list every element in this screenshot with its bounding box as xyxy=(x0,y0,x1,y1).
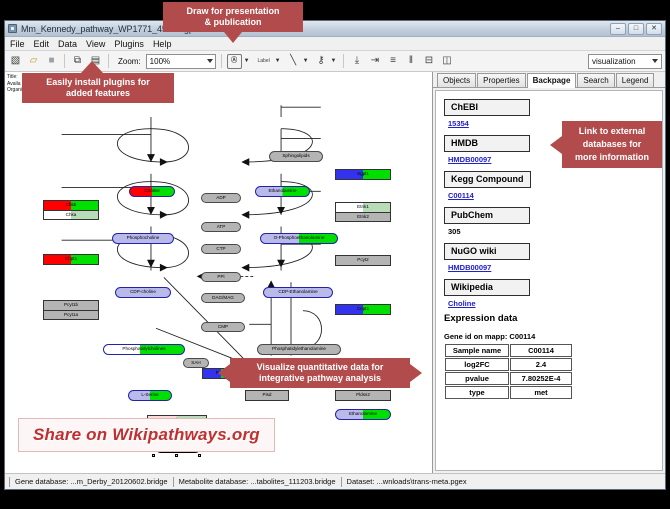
gene-cept1[interactable]: Cept1 xyxy=(335,304,391,315)
callout-plugins: Easily install plugins for added feature… xyxy=(22,73,174,103)
toolbar-separator xyxy=(64,54,65,68)
status-metabolite-database: Metabolite database: ...tabolites_111203… xyxy=(173,477,341,487)
chevron-down-icon xyxy=(207,59,213,63)
node-ctp[interactable]: CTP xyxy=(201,244,241,254)
cell-value: 7.80252E-4 xyxy=(510,372,572,385)
node-cmp[interactable]: CMP xyxy=(201,322,245,332)
line-icon[interactable]: ╲ xyxy=(286,54,301,69)
pubchem-value: 305 xyxy=(448,227,662,236)
app-logo-icon xyxy=(8,24,17,33)
node-dag-mag[interactable]: DAG/MAG xyxy=(201,293,245,303)
menu-bar: File Edit Data View Plugins Help xyxy=(5,37,665,51)
chevron-down-icon xyxy=(652,59,658,63)
callout-link-line3: more information xyxy=(569,151,655,164)
callout-draw-line2: & publication xyxy=(170,17,296,28)
backpage-section-nugo: NuGO wiki HMDB00097 xyxy=(444,241,662,272)
status-dataset: Dataset: ...wnloads\trans-meta.pgex xyxy=(341,477,472,487)
chevron-down-icon[interactable]: ▼ xyxy=(331,58,337,64)
callout-visualize: Visualize quantitative data for integrat… xyxy=(230,358,410,388)
gene-chpt1[interactable]: Chpt1 xyxy=(43,254,99,265)
table-row: pvalue 7.80252E-4 xyxy=(445,372,572,385)
align-columns-icon[interactable]: ‖ xyxy=(403,54,418,69)
node-adp[interactable]: ADP xyxy=(201,193,241,203)
node-ppi[interactable]: PPi xyxy=(201,272,241,282)
node-cdp-choline[interactable]: CDP-choline xyxy=(115,287,171,298)
toolbar-separator xyxy=(221,54,222,68)
menu-data[interactable]: Data xyxy=(58,39,77,49)
callout-visualize-line1: Visualize quantitative data for xyxy=(237,362,403,373)
menu-edit[interactable]: Edit xyxy=(34,39,50,49)
callout-link: Link to external databases for more info… xyxy=(562,121,662,168)
node-sphingolipids[interactable]: Sphingolipids xyxy=(269,151,323,162)
gene-etnk1[interactable]: Etnk1 xyxy=(335,202,391,212)
toolbar-separator xyxy=(108,54,109,68)
zoom-value: 100% xyxy=(150,57,170,66)
cell-value: met xyxy=(510,386,572,399)
gene-pldss2[interactable]: Pldss2 xyxy=(335,390,391,401)
chevron-down-icon[interactable]: ▼ xyxy=(275,58,281,64)
menu-file[interactable]: File xyxy=(10,39,25,49)
cell-key: type xyxy=(445,386,509,399)
callout-plugins-line1: Easily install plugins for xyxy=(29,77,167,88)
section-header-wikipedia: Wikipedia xyxy=(444,279,530,296)
datanode-icon[interactable]: Ⓐ xyxy=(227,54,242,69)
callout-arrow-left-icon xyxy=(550,136,562,154)
backpage-section-pubchem: PubChem 305 xyxy=(444,205,662,236)
title-bar: Mm_Kennedy_pathway_WP1771_45176.gpml – □… xyxy=(5,21,665,37)
node-phosphatidylethanolamine[interactable]: Phosphatidylethanolamine xyxy=(257,344,341,355)
status-bar: Gene database: ...m_Derby_20120602.bridg… xyxy=(5,473,665,489)
callout-arrow-right-icon xyxy=(410,364,422,382)
gene-sgpl1[interactable]: Sgpl1 xyxy=(335,169,391,180)
callout-arrow-down-icon xyxy=(224,32,242,43)
wikipedia-link[interactable]: Choline xyxy=(448,299,662,308)
cell-key: Sample name xyxy=(445,344,509,357)
align-left-icon[interactable]: ⇥ xyxy=(367,54,382,69)
tab-objects[interactable]: Objects xyxy=(437,73,476,87)
section-header-kegg: Kegg Compound xyxy=(444,171,531,188)
node-phosphocholine[interactable]: Phosphocholine xyxy=(112,233,174,244)
cell-key: pvalue xyxy=(445,372,509,385)
toolbar-separator xyxy=(343,54,344,68)
callout-visualize-line2: integrative pathway analysis xyxy=(237,373,403,384)
zoom-label: Zoom: xyxy=(118,57,141,66)
table-row: log2FC 2.4 xyxy=(445,358,572,371)
minimize-button[interactable]: – xyxy=(610,23,626,35)
menu-view[interactable]: View xyxy=(86,39,105,49)
gene-pisd[interactable]: Pisd xyxy=(245,390,289,401)
gene-pcyt2[interactable]: Pcyt2 xyxy=(335,255,391,266)
node-sah[interactable]: SAH xyxy=(183,358,209,368)
status-gene-database: Gene database: ...m_Derby_20120602.bridg… xyxy=(9,477,173,487)
callout-share: Share on Wikipathways.org xyxy=(18,418,275,452)
section-header-hmdb: HMDB xyxy=(444,135,530,152)
close-button[interactable]: ✕ xyxy=(646,23,662,35)
chevron-down-icon[interactable]: ▼ xyxy=(244,58,250,64)
callout-arrow-left-icon xyxy=(218,364,230,382)
cell-value: C00114 xyxy=(510,344,572,357)
same-width-icon[interactable]: ⊟ xyxy=(421,54,436,69)
node-phosphatidylcholines[interactable]: Phosphatidylcholines xyxy=(103,344,185,355)
cell-value: 2.4 xyxy=(510,358,572,371)
callout-link-line1: Link to external xyxy=(569,125,655,138)
expression-data-title: Expression data xyxy=(444,313,662,324)
callout-plugins-line2: added features xyxy=(29,88,167,99)
section-header-nugo: NuGO wiki xyxy=(444,243,530,260)
callout-draw-line1: Draw for presentation xyxy=(170,6,296,17)
table-row: type met xyxy=(445,386,572,399)
open-folder-icon[interactable]: ▱ xyxy=(26,54,41,69)
save-icon[interactable]: ■ xyxy=(44,54,59,69)
gene-pcyt1a[interactable]: Pcyt1a xyxy=(43,310,99,320)
toolbar: ▧ ▱ ■ ⧉ ▤ Zoom: 100% Ⓐ ▼ Label ▼ ╲ ▼ ⚷ ▼… xyxy=(5,51,665,72)
maximize-button[interactable]: □ xyxy=(628,23,644,35)
nugo-link[interactable]: HMDB00097 xyxy=(448,263,662,272)
backpage-section-kegg: Kegg Compound C00114 xyxy=(444,169,662,200)
callout-draw: Draw for presentation & publication xyxy=(163,2,303,32)
kegg-link[interactable]: C00114 xyxy=(448,191,662,200)
menu-help[interactable]: Help xyxy=(153,39,172,49)
tab-properties[interactable]: Properties xyxy=(477,73,525,87)
pathway-canvas[interactable]: Title: Availa Organi xyxy=(5,72,433,473)
tab-legend[interactable]: Legend xyxy=(616,73,655,87)
table-row: Sample name C00114 xyxy=(445,344,572,357)
node-l-serine-left[interactable]: L-Serine xyxy=(128,390,172,401)
callout-arrow-up-icon xyxy=(81,61,103,73)
visualization-combobox[interactable]: visualization xyxy=(588,54,662,69)
section-header-pubchem: PubChem xyxy=(444,207,530,224)
gene-pcyt1b[interactable]: Pcyt1b xyxy=(43,300,99,310)
node-o-phosphoethanolamine[interactable]: O-Phosphoethanolamine xyxy=(260,233,338,244)
gene-chkb[interactable]: Chkb xyxy=(43,200,99,210)
node-choline-top[interactable]: Choline xyxy=(129,186,175,197)
tab-backpage[interactable]: Backpage xyxy=(527,73,577,88)
tab-search[interactable]: Search xyxy=(577,73,614,87)
align-rows-icon[interactable]: ≡ xyxy=(385,54,400,69)
node-ethanolamine-top[interactable]: Ethanolamine xyxy=(255,186,310,197)
zoom-combobox[interactable]: 100% xyxy=(146,54,216,69)
callout-link-line2: databases for xyxy=(569,138,655,151)
align-top-icon[interactable]: ⤓ xyxy=(349,54,364,69)
node-ethanolamine-bottom[interactable]: Ethanolamine xyxy=(335,409,391,420)
same-height-icon[interactable]: ◫ xyxy=(439,54,454,69)
gene-id-on-mapp: Gene id on mapp: C00114 xyxy=(444,332,662,341)
window-controls: – □ ✕ xyxy=(610,23,662,35)
cell-key: log2FC xyxy=(445,358,509,371)
section-header-chebi: ChEBI xyxy=(444,99,530,116)
menu-plugins[interactable]: Plugins xyxy=(114,39,144,49)
node-atp[interactable]: ATP xyxy=(201,222,241,232)
gene-chka[interactable]: Chka xyxy=(43,210,99,220)
new-file-icon[interactable]: ▧ xyxy=(8,54,23,69)
chevron-down-icon[interactable]: ▼ xyxy=(303,58,309,64)
expression-data-table: Sample name C00114 log2FC 2.4 pvalue 7.8… xyxy=(444,343,573,400)
node-cdp-ethanolamine[interactable]: CDP-Ethanolamine xyxy=(263,287,333,298)
receptor-icon[interactable]: ⚷ xyxy=(314,54,329,69)
label-icon[interactable]: Label xyxy=(255,54,273,69)
visualization-value: visualization xyxy=(592,57,636,66)
backpage-section-wikipedia: Wikipedia Choline xyxy=(444,277,662,308)
side-tab-strip: Objects Properties Backpage Search Legen… xyxy=(433,72,665,88)
gene-etnk2[interactable]: Etnk2 xyxy=(335,212,391,222)
